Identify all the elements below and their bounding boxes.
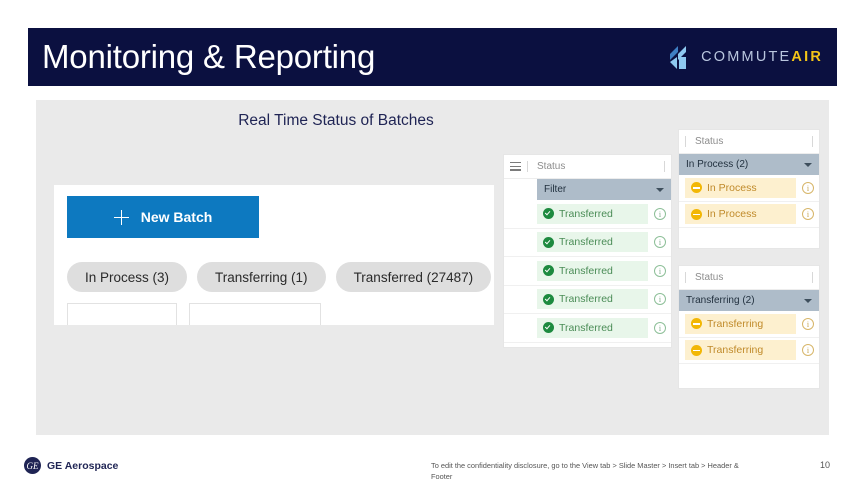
- logo-wordmark: COMMUTEAIR: [701, 49, 823, 65]
- column-divider: [527, 161, 528, 172]
- status-badge: In Process: [685, 178, 796, 198]
- chevron-down-icon: [804, 163, 812, 167]
- chip-transferring-label: Transferring (1): [215, 270, 308, 285]
- grid-header: Status: [679, 130, 819, 154]
- column-divider: [664, 161, 665, 172]
- status-label: In Process: [707, 182, 757, 194]
- status-badge: Transferred: [537, 232, 648, 252]
- table-row[interactable]: In Process i: [679, 175, 819, 202]
- check-circle-icon: [543, 294, 554, 305]
- status-label: Transferred: [559, 265, 613, 277]
- slide: Monitoring & Reporting COMMUTEAIR Real T…: [0, 0, 865, 487]
- table-row[interactable]: Transferring i: [679, 338, 819, 365]
- grid-panel-transferring: Status Transferring (2) Transferring i T…: [679, 266, 819, 388]
- clipped-card[interactable]: [189, 303, 321, 325]
- chip-in-process-label: In Process (3): [85, 270, 169, 285]
- column-header-status: Status: [695, 272, 812, 283]
- commuteair-logo: COMMUTEAIR: [667, 44, 823, 71]
- status-label: Transferred: [559, 208, 613, 220]
- column-divider: [812, 272, 813, 283]
- chevron-down-icon: [804, 299, 812, 303]
- info-icon[interactable]: i: [802, 344, 814, 356]
- info-icon[interactable]: i: [802, 208, 814, 220]
- info-icon[interactable]: i: [802, 318, 814, 330]
- logo-text-air: AIR: [791, 49, 823, 65]
- status-label: Transferred: [559, 322, 613, 334]
- footer-note: To edit the confidentiality disclosure, …: [431, 461, 761, 482]
- column-divider: [812, 136, 813, 147]
- check-circle-icon: [543, 265, 554, 276]
- minus-circle-icon: [691, 209, 702, 220]
- column-header-status: Status: [695, 136, 812, 147]
- status-badge: Transferring: [685, 314, 796, 334]
- table-row[interactable]: Transferred i: [504, 314, 671, 343]
- footer-brand: GE GE Aerospace: [24, 457, 118, 474]
- status-label: Transferred: [559, 293, 613, 305]
- commuteair-logo-mark: [667, 44, 694, 71]
- info-icon[interactable]: i: [802, 182, 814, 194]
- slide-header: Monitoring & Reporting COMMUTEAIR: [28, 28, 837, 86]
- status-label: Transferred: [559, 236, 613, 248]
- page-title: Monitoring & Reporting: [42, 38, 375, 76]
- grid-header: Status: [504, 155, 671, 179]
- table-row[interactable]: Transferred i: [504, 229, 671, 258]
- column-divider: [685, 272, 686, 283]
- section-title: Real Time Status of Batches: [36, 112, 636, 130]
- grid-rows: Transferred i Transferred i Transferred …: [504, 200, 671, 343]
- check-circle-icon: [543, 208, 554, 219]
- minus-circle-icon: [691, 182, 702, 193]
- grid-header: Status: [679, 266, 819, 290]
- clipped-card[interactable]: [67, 303, 177, 325]
- filter-dropdown-label: In Process (2): [686, 159, 804, 170]
- chip-in-process[interactable]: In Process (3): [67, 262, 187, 292]
- new-batch-label: New Batch: [141, 209, 213, 225]
- content-canvas: Real Time Status of Batches New Batch In…: [36, 100, 829, 435]
- column-header-status: Status: [537, 161, 664, 172]
- grid-panel-in-process: Status In Process (2) In Process i In Pr…: [679, 130, 819, 248]
- info-icon[interactable]: i: [654, 208, 666, 220]
- new-batch-button[interactable]: New Batch: [67, 196, 259, 238]
- info-icon[interactable]: i: [654, 322, 666, 334]
- status-filter-chips: In Process (3) Transferring (1) Transfer…: [67, 262, 491, 292]
- check-circle-icon: [543, 322, 554, 333]
- hamburger-menu-icon[interactable]: [510, 162, 521, 171]
- table-row[interactable]: Transferred i: [504, 200, 671, 229]
- status-label: Transferring: [707, 344, 763, 356]
- minus-circle-icon: [691, 318, 702, 329]
- status-badge: Transferred: [537, 289, 648, 309]
- logo-text-commute: COMMUTE: [701, 49, 791, 65]
- chip-transferred-label: Transferred (27487): [354, 270, 474, 285]
- table-row[interactable]: In Process i: [679, 202, 819, 229]
- status-badge: In Process: [685, 204, 796, 224]
- check-circle-icon: [543, 237, 554, 248]
- filter-dropdown[interactable]: In Process (2): [679, 154, 819, 175]
- filter-dropdown[interactable]: Filter: [537, 179, 671, 200]
- chevron-down-icon: [656, 188, 664, 192]
- filter-dropdown-label: Transferring (2): [686, 295, 804, 306]
- status-badge: Transferred: [537, 204, 648, 224]
- status-badge: Transferred: [537, 261, 648, 281]
- filter-dropdown-label: Filter: [544, 184, 656, 195]
- table-row[interactable]: Transferred i: [504, 257, 671, 286]
- ge-monogram-icon: GE: [24, 457, 41, 474]
- page-number: 10: [820, 460, 830, 470]
- table-row[interactable]: Transferring i: [679, 311, 819, 338]
- info-icon[interactable]: i: [654, 265, 666, 277]
- grid-rows: In Process i In Process i: [679, 175, 819, 228]
- plus-icon: [114, 210, 129, 225]
- column-divider: [685, 136, 686, 147]
- chip-transferring[interactable]: Transferring (1): [197, 262, 326, 292]
- table-row[interactable]: Transferred i: [504, 286, 671, 315]
- minus-circle-icon: [691, 345, 702, 356]
- info-icon[interactable]: i: [654, 293, 666, 305]
- footer-brand-label: GE Aerospace: [47, 460, 118, 472]
- status-label: In Process: [707, 208, 757, 220]
- status-label: Transferring: [707, 318, 763, 330]
- filter-dropdown[interactable]: Transferring (2): [679, 290, 819, 311]
- status-badge: Transferring: [685, 340, 796, 360]
- grid-panel-transferred: Status Filter Transferred i Transferred …: [504, 155, 671, 347]
- status-badge: Transferred: [537, 318, 648, 338]
- chip-transferred[interactable]: Transferred (27487): [336, 262, 492, 292]
- info-icon[interactable]: i: [654, 236, 666, 248]
- grid-rows: Transferring i Transferring i: [679, 311, 819, 364]
- batch-app-card: New Batch In Process (3) Transferring (1…: [54, 185, 494, 325]
- clipped-card-row: [67, 303, 321, 325]
